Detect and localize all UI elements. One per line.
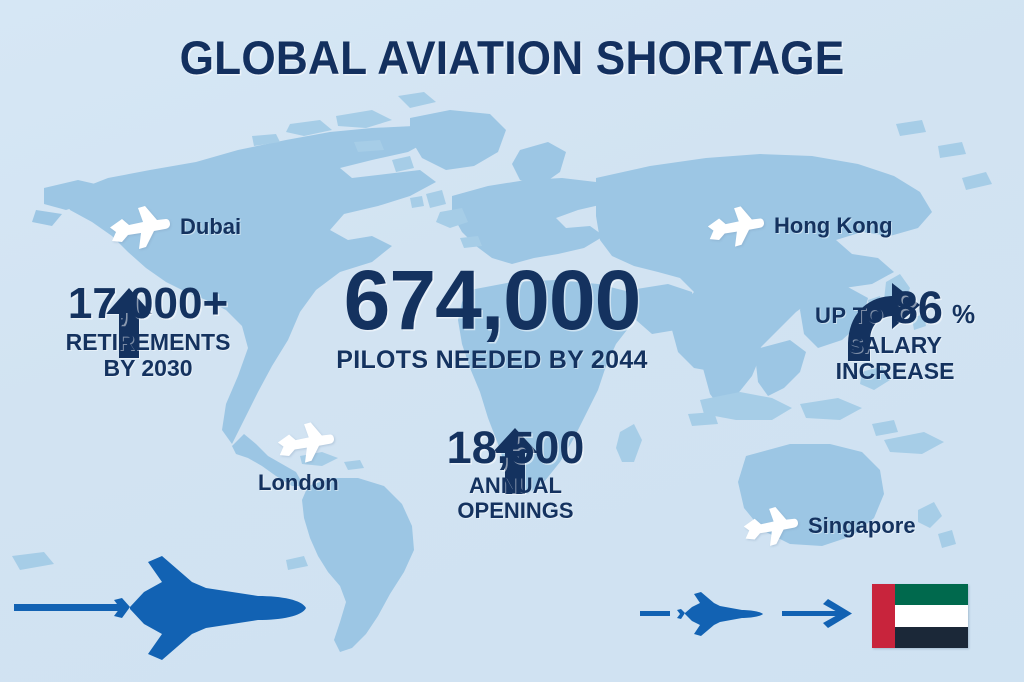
stat-value-pilots-needed: 674,000 — [282, 258, 702, 342]
route-indicator — [640, 592, 855, 636]
airplane-top-view-icon — [10, 552, 316, 664]
stat-label-salary: SALARY INCREASE — [770, 333, 1020, 385]
stat-value-salary: 86 — [893, 285, 943, 330]
dash-line — [640, 611, 670, 616]
stat-value-row-salary: UP TO 86 % — [770, 285, 1020, 330]
stat-label-salary-line1: SALARY — [770, 333, 1020, 359]
stat-annual-openings: 18,500 ANNUAL OPENINGS — [398, 425, 633, 523]
flag-band-red — [872, 584, 895, 648]
flag-stripe-white — [895, 605, 968, 626]
city-label-hong-kong: Hong Kong — [774, 213, 893, 239]
stat-label-retirements-line1: RETIREMENTS — [18, 330, 278, 356]
flag-stripe-black — [895, 627, 968, 648]
trail-line — [14, 604, 122, 611]
stat-salary-increase: UP TO 86 % SALARY INCREASE — [770, 285, 1020, 385]
stat-label-annual-openings-line2: OPENINGS — [398, 499, 633, 524]
flag-stripe-green — [895, 584, 968, 605]
stat-pilots-needed: 674,000 PILOTS NEEDED BY 2044 — [282, 258, 702, 374]
stat-label-pilots-needed: PILOTS NEEDED BY 2044 — [282, 346, 702, 374]
airplane-icon — [742, 505, 798, 547]
stat-value-retirements: 17,000+ — [18, 282, 278, 326]
stat-retirements: 17,000+ RETIREMENTS BY 2030 — [18, 282, 278, 382]
uae-flag-icon — [872, 584, 968, 648]
stat-value-annual-openings: 18,500 — [398, 425, 633, 470]
stat-unit-salary: % — [952, 299, 975, 330]
stat-label-retirements: RETIREMENTS BY 2030 — [18, 330, 278, 382]
airplane-icon — [276, 420, 334, 464]
stat-label-salary-line2: INCREASE — [770, 359, 1020, 385]
stat-prefix-salary: UP TO — [815, 303, 884, 329]
arrow-right-icon — [782, 599, 852, 628]
city-marker-hong-kong: Hong Kong — [706, 204, 893, 248]
city-label-singapore: Singapore — [808, 513, 916, 539]
city-marker-london: London — [258, 420, 339, 496]
airplane-top-view-icon — [677, 592, 763, 636]
stat-label-annual-openings: ANNUAL OPENINGS — [398, 474, 633, 523]
airplane-icon — [108, 204, 170, 250]
city-label-london: London — [258, 470, 339, 496]
city-marker-singapore: Singapore — [742, 505, 916, 547]
city-label-dubai: Dubai — [180, 214, 241, 240]
stat-label-annual-openings-line1: ANNUAL — [398, 474, 633, 499]
city-marker-dubai: Dubai — [108, 204, 241, 250]
infographic-canvas: GLOBAL AVIATION SHORTAGE Dubai Hong Kong… — [0, 0, 1024, 682]
page-title: GLOBAL AVIATION SHORTAGE — [31, 30, 994, 85]
stat-label-retirements-line2: BY 2030 — [18, 356, 278, 382]
flag-stripes — [895, 584, 968, 648]
airplane-icon — [706, 204, 764, 248]
